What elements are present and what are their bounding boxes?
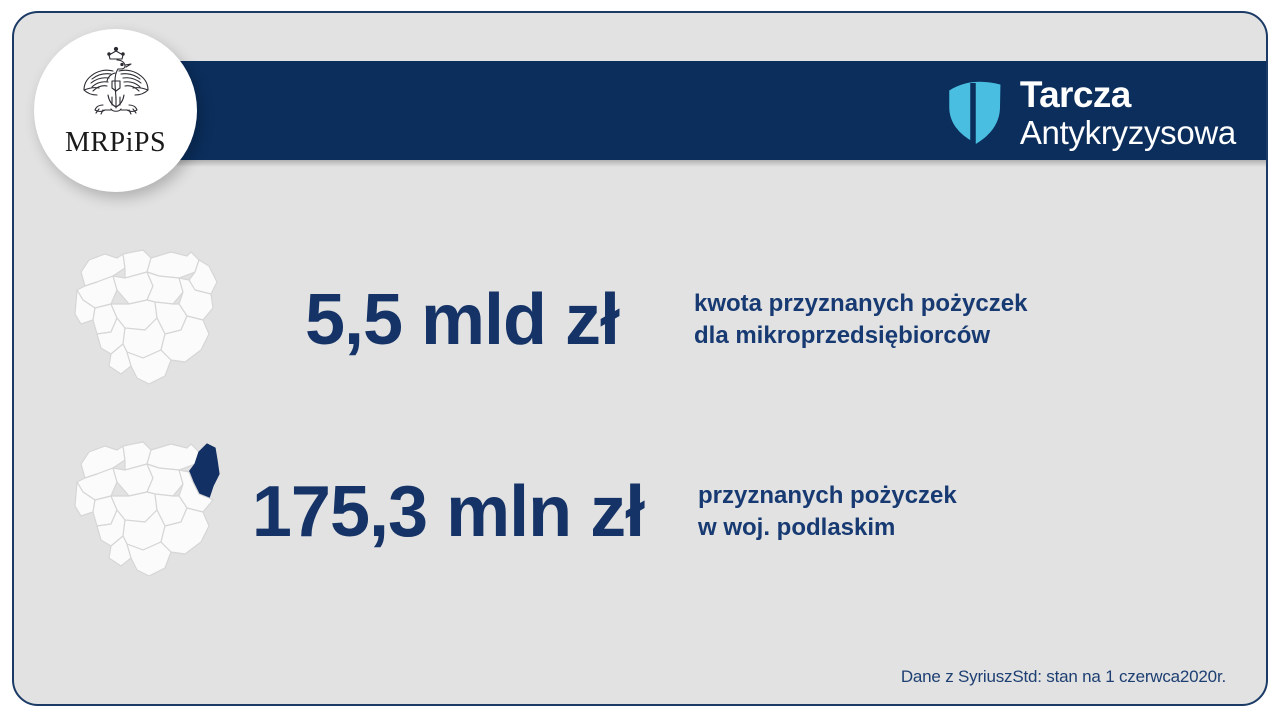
poland-map-podlaskie-icon — [67, 434, 237, 590]
tarcza-line2: Antykryzysowa — [1020, 116, 1236, 149]
source-note: Dane z SyriuszStd: stan na 1 czerwca2020… — [901, 667, 1226, 687]
header-band: Tarcza Antykryzysowa — [177, 61, 1268, 160]
stat-value-loans-podlaskie: 175,3 mln zł — [238, 471, 658, 553]
shield-icon — [942, 77, 1004, 147]
stat-caption-loans-podlaskie: przyznanych pożyczek w woj. podlaskim — [698, 480, 957, 545]
stat-row-loans-podlaskie: 175,3 mln zł przyznanych pożyczek w woj.… — [66, 433, 957, 591]
stat-row-loans-total: 5,5 mld zł kwota przyznanych pożyczek dl… — [66, 241, 1027, 399]
stat-caption-loans-total: kwota przyznanych pożyczek dla mikroprze… — [694, 288, 1027, 353]
mrpips-emblem: MRPiPS — [34, 29, 197, 192]
infographic-card: Tarcza Antykryzysowa — [12, 11, 1268, 706]
infographic-stage: Tarcza Antykryzysowa — [0, 0, 1280, 720]
tarcza-antykryzysowa-logo: Tarcza Antykryzysowa — [942, 75, 1236, 149]
tarcza-line1: Tarcza — [1020, 76, 1236, 113]
tarcza-wordmark: Tarcza Antykryzysowa — [1020, 76, 1236, 149]
poland-map-plain — [66, 241, 238, 399]
polish-eagle-icon — [75, 43, 157, 129]
poland-map-podlaskie — [66, 433, 238, 591]
mrpips-label: MRPiPS — [65, 127, 166, 159]
stat-value-loans-total: 5,5 mld zł — [252, 279, 672, 361]
poland-map-icon — [67, 242, 237, 398]
